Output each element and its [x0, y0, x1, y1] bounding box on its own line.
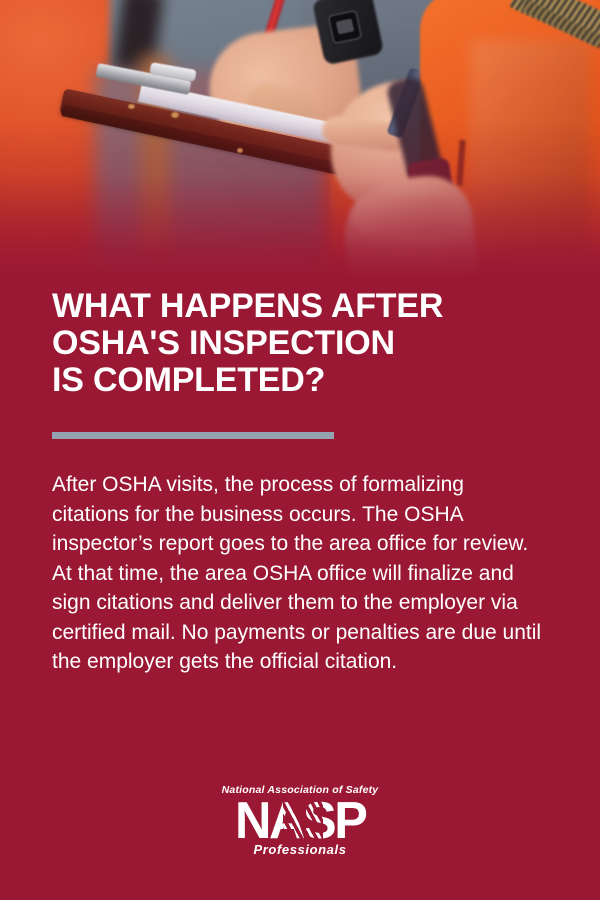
poster-content: What Happens After OSHA's Inspection Is … — [0, 0, 600, 900]
logo-wordmark-wrap: NASP — [233, 797, 367, 845]
logo-wordmark: NASP — [235, 797, 365, 845]
infographic-poster: What Happens After OSHA's Inspection Is … — [0, 0, 600, 900]
headline-line-1: What Happens After — [52, 288, 522, 325]
headline-line-2: OSHA's Inspection — [52, 325, 522, 362]
headline-line-3: Is Completed? — [52, 362, 522, 399]
nasp-logo: National Association of Safety NASP Prof… — [0, 784, 600, 857]
page-title: What Happens After OSHA's Inspection Is … — [52, 288, 522, 399]
title-divider-rule — [52, 432, 334, 439]
body-paragraph: After OSHA visits, the process of formal… — [52, 470, 546, 677]
